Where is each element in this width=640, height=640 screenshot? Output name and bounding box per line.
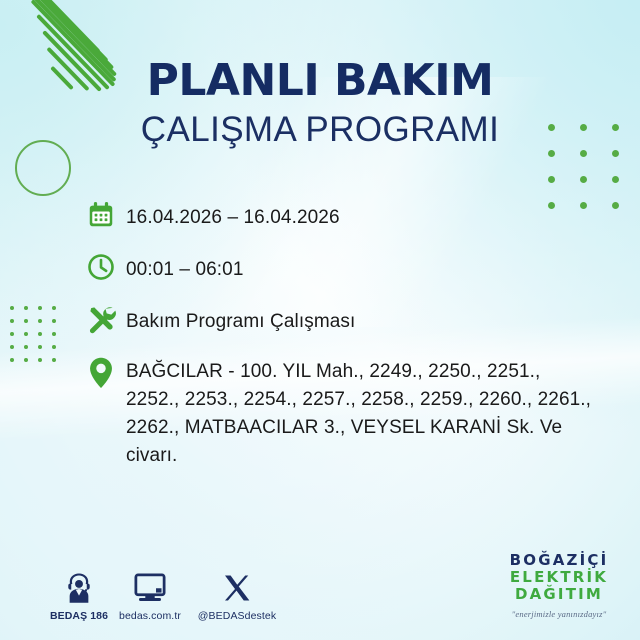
time-range-text: 00:01 – 06:01	[126, 252, 244, 283]
title-line-1: PLANLI BAKIM	[0, 56, 640, 106]
tools-icon	[86, 304, 126, 342]
brand-line-1: BOĞAZİÇİ	[494, 552, 624, 569]
clock-icon	[86, 252, 126, 290]
brand-logo: BOĞAZİÇİ ELEKTRİK DAĞITIM "enerjimizle y…	[494, 552, 624, 623]
detail-row-work-type: Bakım Programı Çalışması	[86, 304, 596, 342]
location-text: BAĞCILAR - 100. YIL Mah., 2249., 2250., …	[126, 356, 596, 470]
brand-line-3: DAĞITIM	[494, 586, 624, 603]
work-type-text: Bakım Programı Çalışması	[126, 304, 355, 335]
brand-line-2: ELEKTRİK	[494, 569, 624, 586]
map-pin-icon	[86, 356, 126, 394]
date-range-text: 16.04.2026 – 16.04.2026	[126, 200, 340, 231]
brand-tagline: "enerjimizle yanınızdayız"	[494, 606, 624, 623]
calendar-icon	[86, 200, 126, 238]
detail-row-date: 16.04.2026 – 16.04.2026	[86, 200, 596, 238]
footer-item-x[interactable]: @BEDASdestek	[172, 568, 302, 622]
planned-maintenance-poster: PLANLI BAKIM ÇALIŞMA PROGRAMI	[0, 0, 640, 640]
detail-row-location: BAĞCILAR - 100. YIL Mah., 2249., 2250., …	[86, 356, 596, 470]
x-twitter-icon	[172, 568, 302, 604]
title-line-2: ÇALIŞMA PROGRAMI	[0, 108, 640, 152]
footer-label-x: @BEDASdestek	[172, 610, 302, 622]
detail-row-time: 00:01 – 06:01	[86, 252, 596, 290]
details-list: 16.04.2026 – 16.04.2026 00:01 – 06:01	[86, 200, 596, 484]
decorative-dot-grid-left	[10, 306, 70, 368]
page-title: PLANLI BAKIM ÇALIŞMA PROGRAMI	[0, 56, 640, 152]
